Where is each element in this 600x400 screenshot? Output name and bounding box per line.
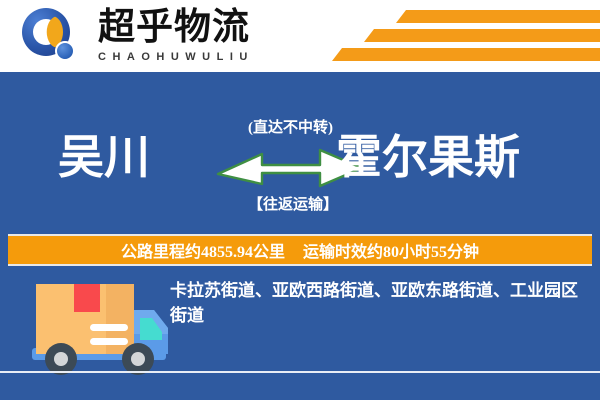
coverage-section: 卡拉苏街道、亚欧西路街道、亚欧东路街道、工业园区街道: [0, 272, 600, 400]
duration-text: 运输时效约80小时55分钟: [303, 238, 479, 262]
distance-text: 公路里程约4855.94公里: [121, 238, 285, 262]
stripe-2: [364, 29, 600, 42]
brand-block: 超乎物流 CHAOHUWULIU: [98, 7, 254, 63]
header-bar: 超乎物流 CHAOHUWULIU: [0, 0, 600, 72]
stripe-1: [396, 10, 600, 23]
roundtrip-note: 【往返运输】: [248, 193, 338, 214]
orange-speed-stripes-icon: [280, 10, 600, 66]
brand-name-en: CHAOHUWULIU: [98, 51, 254, 63]
direct-shipping-note: (直达不中转): [248, 116, 333, 137]
route-info-bar: 公路里程约4855.94公里 运输时效约80小时55分钟: [8, 234, 592, 266]
logo-accent-dot: [55, 41, 75, 61]
bottom-divider: [0, 371, 600, 373]
delivery-truck-icon: [28, 276, 176, 380]
chaohu-logistics-circle-logo-icon: [22, 8, 80, 64]
route-panel: 吴川 (直达不中转) 【往返运输】 霍尔果斯: [0, 72, 600, 230]
covered-streets-text: 卡拉苏街道、亚欧西路街道、亚欧东路街道、工业园区街道: [170, 278, 588, 328]
destination-city: 霍尔果斯: [336, 133, 520, 183]
stripe-3: [332, 48, 600, 61]
origin-city: 吴川: [58, 133, 150, 183]
brand-name-cn: 超乎物流: [98, 7, 254, 49]
logistics-route-banner: 超乎物流 CHAOHUWULIU 吴川 (直达不中转) 【往返运输】 霍尔果斯 …: [0, 0, 600, 400]
